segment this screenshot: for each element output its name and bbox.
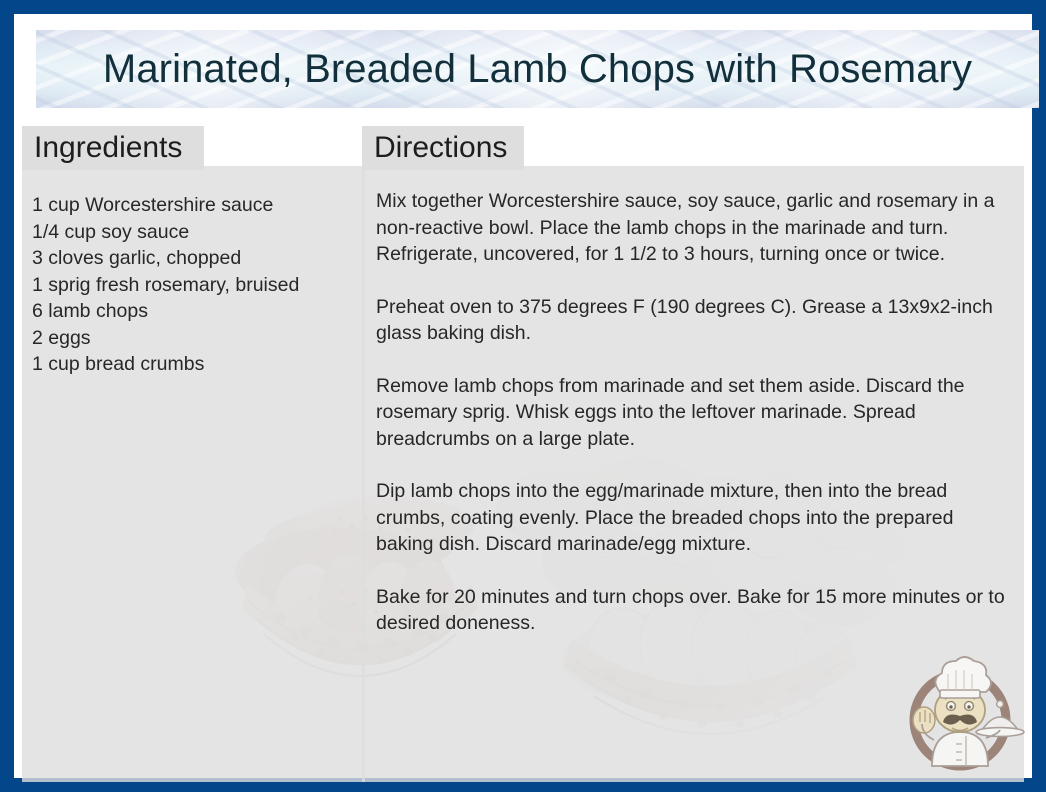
directions-content: Mix together Worcestershire sauce, soy s… (362, 126, 1024, 637)
list-item: 1/4 cup soy sauce (32, 219, 355, 246)
direction-step: Bake for 20 minutes and turn chops over.… (376, 584, 1008, 637)
recipe-title-banner: Marinated, Breaded Lamb Chops with Rosem… (36, 30, 1039, 108)
card-inner-area: Marinated, Breaded Lamb Chops with Rosem… (14, 14, 1032, 778)
direction-step: Dip lamb chops into the egg/marinade mix… (376, 478, 1008, 558)
direction-step: Preheat oven to 375 degrees F (190 degre… (376, 294, 1008, 347)
page-title: Marinated, Breaded Lamb Chops with Rosem… (36, 30, 1039, 108)
ingredients-panel: Ingredients 1 cup Worcestershire sauce 1… (22, 126, 365, 782)
directions-panel: Directions Mix together Worcestershire s… (362, 126, 1024, 782)
list-item: 3 cloves garlic, chopped (32, 245, 355, 272)
list-item: 6 lamb chops (32, 298, 355, 325)
list-item: 2 eggs (32, 325, 355, 352)
list-item: 1 cup bread crumbs (32, 351, 355, 378)
list-item: 1 cup Worcestershire sauce (32, 192, 355, 219)
ingredient-list: 1 cup Worcestershire sauce 1/4 cup soy s… (32, 192, 355, 378)
ingredients-content: 1 cup Worcestershire sauce 1/4 cup soy s… (22, 126, 365, 378)
list-item: 1 sprig fresh rosemary, bruised (32, 272, 355, 299)
direction-step: Remove lamb chops from marinade and set … (376, 373, 1008, 453)
direction-step: Mix together Worcestershire sauce, soy s… (376, 188, 1008, 268)
recipe-card: Marinated, Breaded Lamb Chops with Rosem… (0, 0, 1046, 792)
